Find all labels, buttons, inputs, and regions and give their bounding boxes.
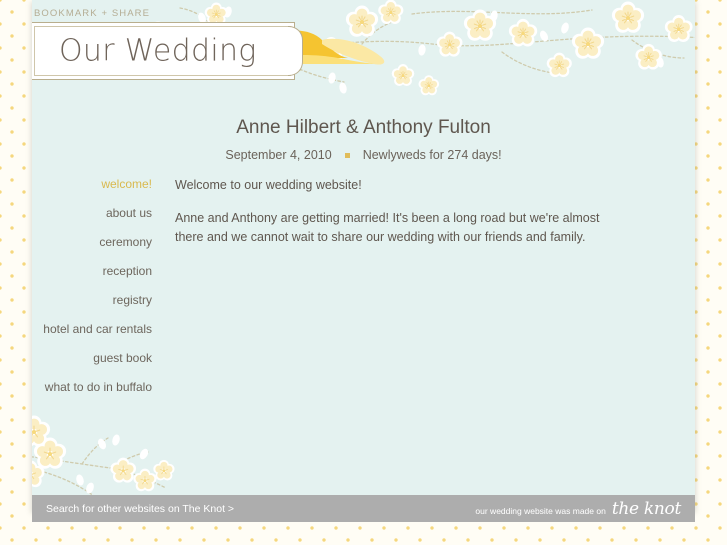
sidebar-item-guest-book[interactable]: guest book — [32, 352, 152, 364]
content-panel: BOOKMARK + SHARE Our Wedding Anne Hilber… — [32, 0, 695, 515]
the-knot-logo[interactable]: the knot — [612, 499, 681, 519]
couple-names: Anne Hilbert & Anthony Fulton — [32, 117, 695, 139]
sidebar-nav: welcome! about us ceremony reception reg… — [32, 178, 152, 410]
countdown-text: Newlyweds for 274 days! — [363, 148, 502, 162]
separator-dot-icon — [345, 153, 350, 158]
sidebar-item-reception[interactable]: reception — [32, 265, 152, 277]
sidebar-item-welcome[interactable]: welcome! — [32, 178, 152, 190]
main-content: Welcome to our wedding website! Anne and… — [175, 178, 645, 248]
sidebar-item-hotel-and-car-rentals[interactable]: hotel and car rentals — [32, 323, 152, 335]
footer-branding: our wedding website was made on the knot — [475, 499, 681, 519]
sidebar-item-about-us[interactable]: about us — [32, 207, 152, 219]
search-other-websites-link[interactable]: Search for other websites on The Knot > — [46, 503, 234, 515]
welcome-greeting: Welcome to our wedding website! — [175, 178, 645, 192]
event-info-line: September 4, 2010 Newlyweds for 274 days… — [32, 148, 695, 162]
made-on-text: our wedding website was made on — [475, 506, 605, 516]
wedding-date: September 4, 2010 — [225, 148, 331, 162]
site-title-plaque: Our Wedding — [32, 22, 295, 80]
sidebar-item-what-to-do-in-buffalo[interactable]: what to do in buffalo — [32, 381, 152, 393]
footer-bar: Search for other websites on The Knot > … — [32, 495, 695, 522]
site-title: Our Wedding — [59, 34, 257, 69]
bookmark-share-link[interactable]: BOOKMARK + SHARE — [34, 8, 150, 19]
sidebar-item-ceremony[interactable]: ceremony — [32, 236, 152, 248]
sidebar-item-registry[interactable]: registry — [32, 294, 152, 306]
welcome-paragraph: Anne and Anthony are getting married! It… — [175, 209, 630, 248]
